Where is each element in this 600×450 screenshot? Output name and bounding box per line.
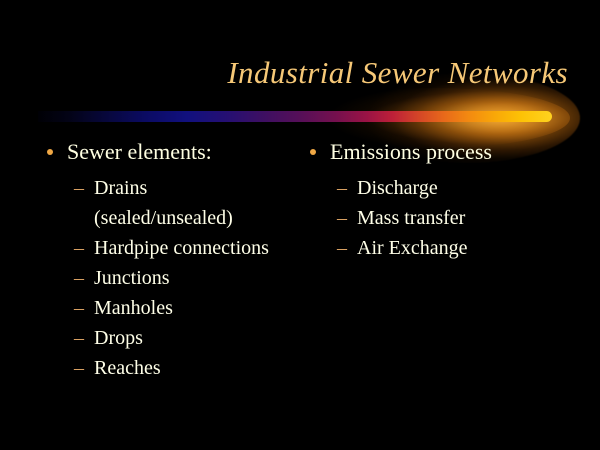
list-item: – Air Exchange (303, 233, 578, 263)
bullet-heading-label: Emissions process (330, 139, 492, 164)
bullet-dot-icon (47, 149, 53, 155)
list-item-label: Drains (sealed/unsealed) (94, 173, 288, 233)
en-dash-icon: – (74, 173, 84, 203)
list-item-label: Discharge (357, 173, 578, 203)
content-column-left: Sewer elements: – Drains (sealed/unseale… (40, 138, 288, 383)
en-dash-icon: – (74, 293, 84, 323)
sub-bullet-list-left: – Drains (sealed/unsealed) – Hardpipe co… (40, 173, 288, 383)
list-item-label: Manholes (94, 293, 288, 323)
list-item-label: Air Exchange (357, 233, 578, 263)
en-dash-icon: – (337, 173, 347, 203)
en-dash-icon: – (74, 353, 84, 383)
list-item: – Drops (40, 323, 288, 353)
list-item-label: Drops (94, 323, 288, 353)
bullet-heading-label: Sewer elements: (67, 139, 212, 164)
en-dash-icon: – (74, 263, 84, 293)
bullet-dot-icon (310, 149, 316, 155)
list-item-label: Hardpipe connections (94, 233, 288, 263)
list-item: – Drains (sealed/unsealed) (40, 173, 288, 233)
list-item-label: Reaches (94, 353, 288, 383)
sub-bullet-list-right: – Discharge – Mass transfer – Air Exchan… (303, 173, 578, 263)
en-dash-icon: – (74, 233, 84, 263)
divider-gradient-bar (38, 111, 552, 122)
list-item-label: Mass transfer (357, 203, 578, 233)
bullet-heading-sewer-elements: Sewer elements: (40, 138, 288, 166)
content-column-right: Emissions process – Discharge – Mass tra… (303, 138, 578, 263)
list-item: – Discharge (303, 173, 578, 203)
en-dash-icon: – (337, 203, 347, 233)
presentation-slide: Industrial Sewer Networks Sewer elements… (0, 0, 600, 450)
page-title: Industrial Sewer Networks (0, 55, 600, 91)
en-dash-icon: – (74, 323, 84, 353)
list-item: – Hardpipe connections (40, 233, 288, 263)
list-item-label: Junctions (94, 263, 288, 293)
list-item: – Junctions (40, 263, 288, 293)
list-item: – Manholes (40, 293, 288, 323)
list-item: – Reaches (40, 353, 288, 383)
bullet-heading-emissions-process: Emissions process (303, 138, 578, 166)
en-dash-icon: – (337, 233, 347, 263)
list-item: – Mass transfer (303, 203, 578, 233)
